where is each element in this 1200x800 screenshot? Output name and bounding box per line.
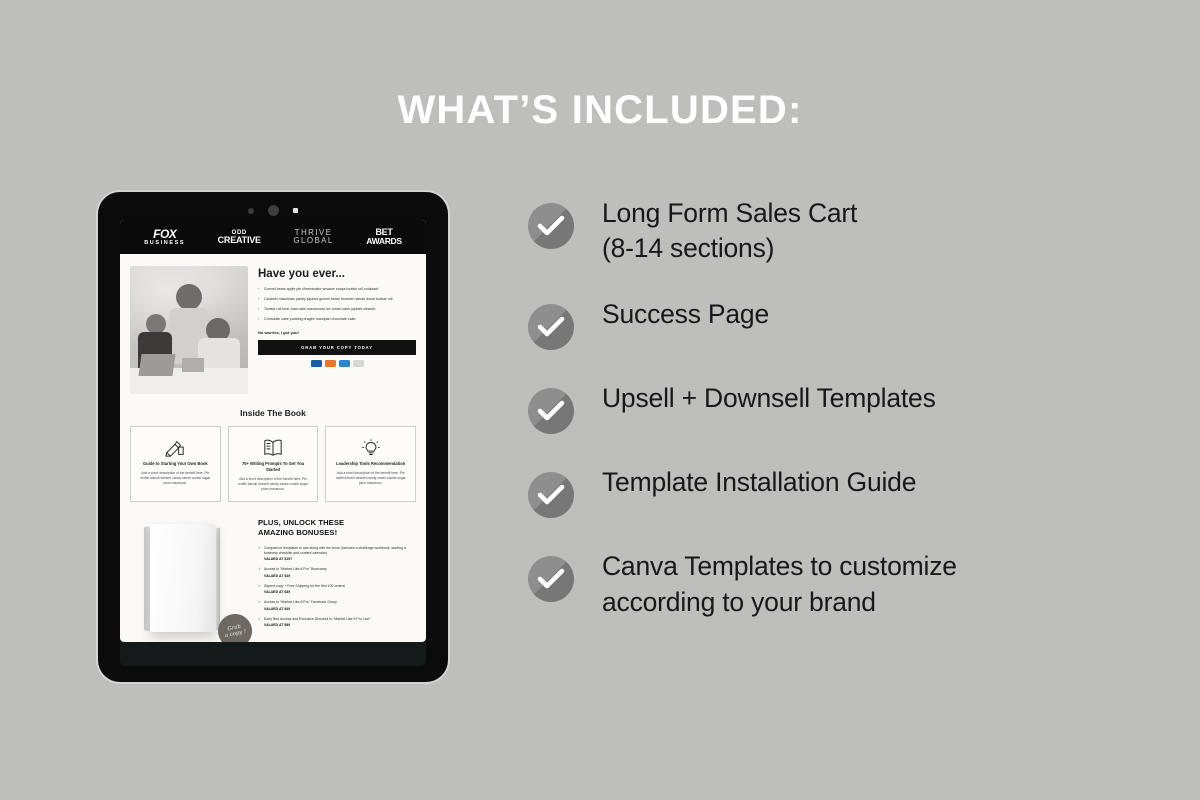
included-checklist: Long Form Sales Cart (8-14 sections) Suc… [528, 196, 1148, 651]
grab-a-copy-badge: Grab a copy ! [215, 611, 255, 642]
lightbulb-icon [332, 435, 409, 461]
hero-note: No worries, I got you! [258, 330, 416, 335]
bonus-value: VALUED AT $99 [264, 623, 416, 628]
checklist-item-line1: Upsell + Downsell Templates [602, 381, 936, 416]
inside-the-book-section: Inside The Book Guide to Starting Your O… [120, 400, 426, 506]
bonus-list-item: Access to “Market Like A Pro” Bootcamp V… [258, 567, 416, 579]
logo-bet-awards: BET AWARDS [366, 228, 402, 246]
checklist-item-canva-templates: Canva Templates to customize according t… [528, 549, 1148, 619]
bonus-text: Early Bird Access and Exclusive Discount… [264, 617, 370, 621]
checklist-item-text: Template Installation Guide [602, 465, 916, 500]
bonus-list-item: Signed copy + Free Shipping for the firs… [258, 584, 416, 596]
checklist-item-text: Canva Templates to customize according t… [602, 549, 957, 619]
bonus-value: VALUED AT $197 [264, 557, 416, 562]
bonuses-copy: PLUS, UNLOCK THESE AMAZING BONUSES! Comp… [258, 516, 416, 642]
checklist-item-long-form-sales-cart: Long Form Sales Cart (8-14 sections) [528, 196, 1148, 266]
checklist-item-line2: according to your brand [602, 585, 957, 620]
hero-bullet: Tootsie roll bear claw cake macaroons ic… [258, 307, 416, 313]
hero-bullet-list: Gummi bears apple pie cheesecake sesame … [258, 287, 416, 323]
tablet-sensor-dots [98, 205, 448, 216]
hero-bullet: Gummi bears apple pie cheesecake sesame … [258, 287, 416, 293]
benefit-card-guide: Guide to Starting Your Own Book Add a sh… [130, 426, 221, 502]
check-circle-icon [528, 388, 574, 434]
payment-card-icons [258, 360, 416, 367]
grab-your-copy-button[interactable]: GRAB YOUR COPY TODAY [258, 340, 416, 355]
bonuses-section: Grab a copy ! PLUS, UNLOCK THESE AMAZING… [120, 506, 426, 642]
indicator-light-icon [293, 208, 298, 213]
tablet-screen: FOX BUSINESS ODD CREATIVE THRIVE GLOBAL … [120, 220, 426, 642]
benefit-card-title: Guide to Starting Your Own Book [137, 461, 214, 467]
book-cover [150, 524, 216, 632]
checklist-item-line2: (8-14 sections) [602, 231, 857, 266]
mastercard-card-icon [325, 360, 336, 367]
hero-photo [130, 266, 248, 394]
bonuses-title-line2: AMAZING BONUSES! [258, 528, 416, 538]
tablet-bottom-bar [120, 642, 426, 666]
benefit-card-prompts: 75+ Writing Prompts To Get You Started A… [228, 426, 319, 502]
hero-title: Have you ever... [258, 268, 416, 280]
bonus-text: Access to “Market Like A Pro” Bootcamp [264, 567, 327, 571]
visa-card-icon [311, 360, 322, 367]
bonus-list-item: Early Bird Access and Exclusive Discount… [258, 617, 416, 629]
bonus-text: Access to “Market Like A Pro” Facebook G… [264, 600, 337, 604]
check-circle-icon [528, 472, 574, 518]
benefit-card-title: Leadership Tools Recommendation [332, 461, 409, 467]
bonuses-title: PLUS, UNLOCK THESE AMAZING BONUSES! [258, 518, 416, 539]
camera-lens-icon [268, 205, 279, 216]
hero-bullet: Caramel macchiato pastry jujubes gummi b… [258, 297, 416, 303]
bonus-value: VALUED AT $39 [264, 590, 416, 595]
checklist-item-line1: Template Installation Guide [602, 465, 916, 500]
inside-the-book-title: Inside The Book [130, 408, 416, 418]
bonus-text: Signed copy + Free Shipping for the firs… [264, 584, 345, 588]
check-circle-icon [528, 556, 574, 602]
benefit-card-description: Add a short description of the benefit h… [137, 471, 214, 486]
writing-hand-icon [137, 435, 214, 461]
page-title: WHAT’S INCLUDED: [0, 88, 1200, 133]
checklist-item-text: Upsell + Downsell Templates [602, 381, 936, 416]
checklist-item-success-page: Success Page [528, 297, 1148, 350]
bonus-text: Companion templates to use along with th… [264, 546, 406, 555]
bonus-value: VALUED AT $49 [264, 574, 416, 579]
hero-copy: Have you ever... Gummi bears apple pie c… [258, 266, 416, 394]
amex-card-icon [339, 360, 350, 367]
tablet-mockup: FOX BUSINESS ODD CREATIVE THRIVE GLOBAL … [98, 192, 448, 682]
discover-card-icon [353, 360, 364, 367]
checklist-item-text: Success Page [602, 297, 769, 332]
press-logo-bar: FOX BUSINESS ODD CREATIVE THRIVE GLOBAL … [120, 220, 426, 254]
check-circle-icon [528, 304, 574, 350]
bonus-value: VALUED AT $49 [264, 607, 416, 612]
benefit-card-description: Add a short description of the benefit h… [332, 471, 409, 486]
checklist-item-upsell-downsell-templates: Upsell + Downsell Templates [528, 381, 1148, 434]
benefit-card-description: Add a short description of the benefit h… [235, 477, 312, 492]
book-3d-image [144, 524, 216, 636]
bonuses-title-line1: PLUS, UNLOCK THESE [258, 518, 416, 528]
hero-section: Have you ever... Gummi bears apple pie c… [120, 254, 426, 400]
open-book-icon [235, 435, 312, 461]
benefit-card-title: 75+ Writing Prompts To Get You Started [235, 461, 312, 473]
benefit-card-leadership: Leadership Tools Recommendation Add a sh… [325, 426, 416, 502]
bonus-list: Companion templates to use along with th… [258, 546, 416, 629]
checklist-item-line1: Long Form Sales Cart [602, 196, 857, 231]
bonus-list-item: Companion templates to use along with th… [258, 546, 416, 563]
bonus-list-item: Access to “Market Like A Pro” Facebook G… [258, 600, 416, 612]
logo-odd-creative: ODD CREATIVE [218, 230, 261, 245]
check-circle-icon [528, 203, 574, 249]
logo-fox-business: FOX BUSINESS [144, 228, 185, 247]
logo-thrive-global: THRIVE GLOBAL [293, 229, 333, 245]
checklist-item-line1: Canva Templates to customize [602, 549, 957, 584]
book-mockup: Grab a copy ! [130, 516, 250, 642]
checklist-item-template-installation-guide: Template Installation Guide [528, 465, 1148, 518]
checklist-item-text: Long Form Sales Cart (8-14 sections) [602, 196, 857, 266]
sensor-dot-small-icon [248, 208, 254, 214]
hero-bullet: Chocolate cake pudding dragée marzipan c… [258, 317, 416, 323]
checklist-item-line1: Success Page [602, 297, 769, 332]
